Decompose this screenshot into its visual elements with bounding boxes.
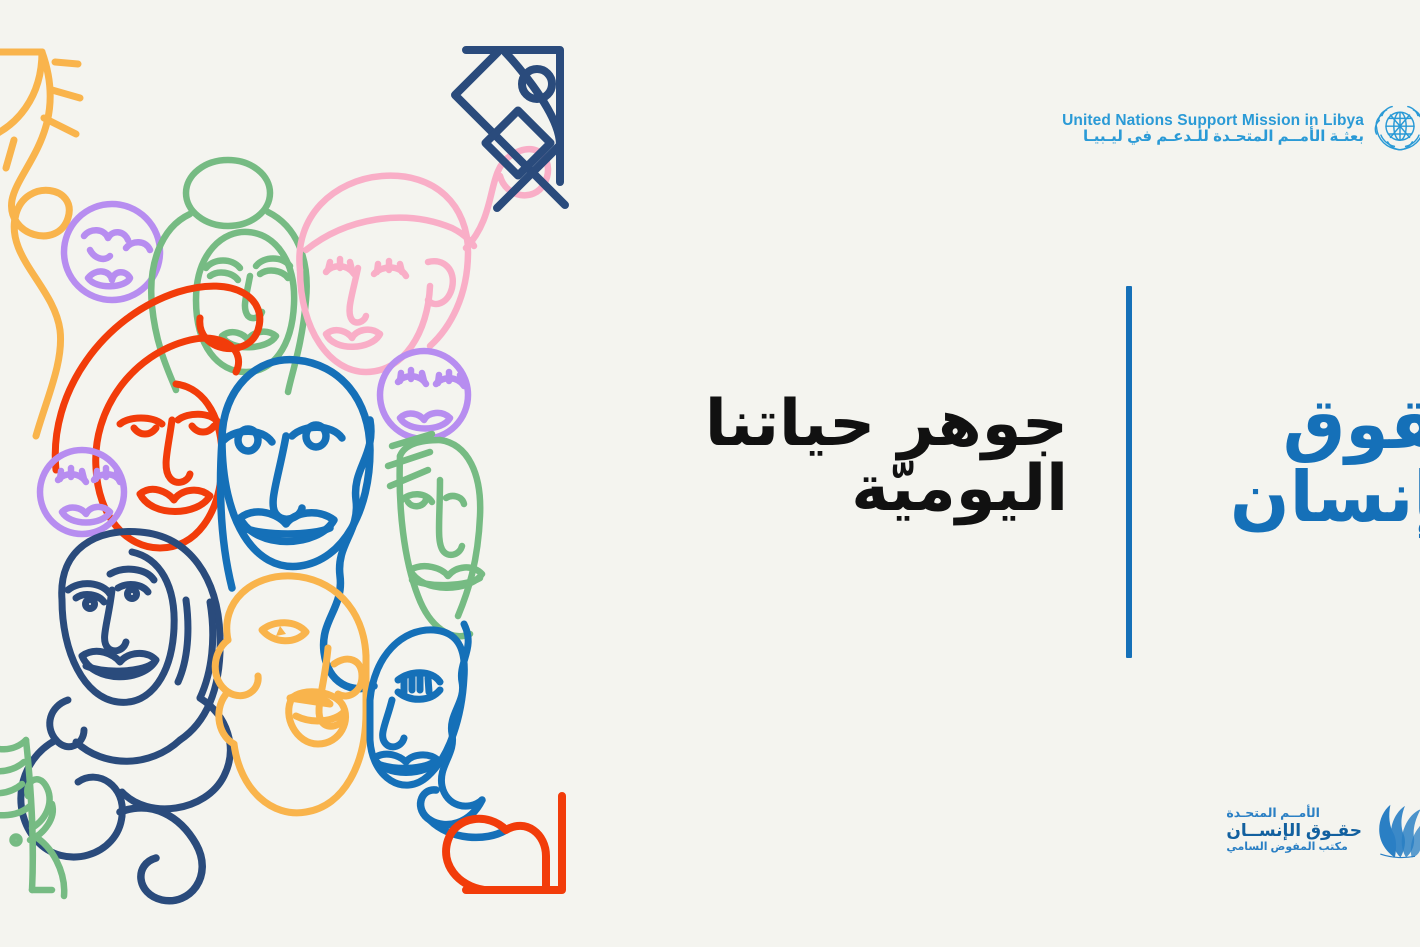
headline-divider — [1126, 286, 1132, 658]
headline-title-line-1: حقوق — [1160, 388, 1420, 461]
unsmil-logo-text: United Nations Support Mission in Libya … — [1062, 112, 1364, 146]
face-portrait — [40, 450, 124, 534]
un-emblem — [1372, 98, 1420, 160]
heart-icon — [446, 796, 562, 890]
ohchr-logo-text: الأمــم المتحـدة حقـوق الإنســان مكتب ال… — [1226, 806, 1362, 854]
face-portrait — [299, 149, 548, 372]
face-portrait — [215, 576, 366, 813]
face-portrait — [370, 624, 482, 806]
unsmil-logo: United Nations Support Mission in Libya … — [1062, 98, 1420, 160]
line-art-faces-collage — [0, 0, 600, 947]
ohchr-line-high-commissioner: مكتب المفوض السامي — [1226, 841, 1348, 854]
ohchr-logo: الأمــم المتحـدة حقـوق الإنســان مكتب ال… — [1226, 799, 1420, 861]
face-portrait — [380, 351, 468, 439]
ohchr-line-human-rights: حقـوق الإنســان — [1226, 821, 1362, 841]
unsmil-name-english: United Nations Support Mission in Libya — [1062, 112, 1364, 129]
face-portrait — [120, 808, 202, 901]
poster-canvas: United Nations Support Mission in Libya … — [0, 0, 1420, 947]
face-portrait — [421, 790, 506, 838]
face-portrait — [64, 204, 160, 300]
tag-icon — [455, 50, 565, 208]
ohchr-line-united-nations: الأمــم المتحـدة — [1226, 806, 1320, 821]
headline-title-line-2: الإنسان — [1160, 461, 1420, 534]
headline-title: حقوق الإنسان — [1160, 388, 1420, 534]
unsmil-name-arabic: بعثـة الأمــم المتحـدة للـدعـم في ليـبيـ… — [1083, 129, 1364, 146]
sun-icon — [0, 52, 80, 436]
face-portrait — [388, 434, 482, 636]
headline-tagline: جوهر حياتنا اليوميّة — [648, 392, 1068, 523]
ohchr-emblem — [1368, 799, 1420, 861]
